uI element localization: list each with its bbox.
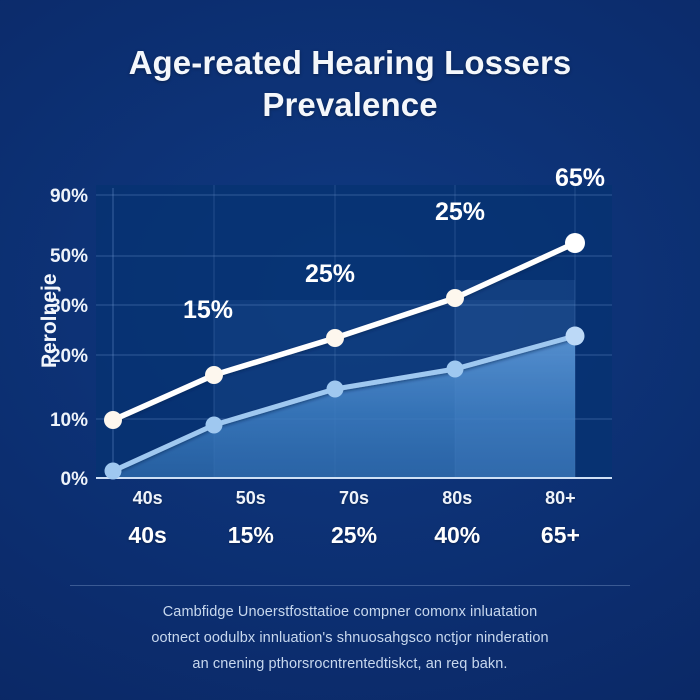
x-axis-tick-row-bottom: 40s 15% 25% 40% 65+	[96, 522, 612, 549]
y-tick-5: 0%	[61, 469, 89, 490]
y-tick-1: 50%	[50, 246, 88, 267]
x-tick-bottom-3: 40%	[406, 522, 509, 549]
page-title: Age-reated Hearing Lossers Prevalence	[0, 42, 700, 125]
annotation-1: 15%	[183, 296, 233, 324]
annotation-4: 65%	[555, 164, 605, 192]
annotation-2: 25%	[305, 260, 355, 288]
x-tick-top-4: 80+	[509, 488, 612, 509]
y-axis-title: Perolneje	[38, 273, 61, 368]
x-tick-bottom-2: 25%	[302, 522, 405, 549]
x-tick-top-3: 80s	[406, 488, 509, 509]
caption-line-2: ootnect oodulbx innluation's shnuosahgsc…	[70, 626, 630, 652]
caption-divider	[70, 585, 630, 586]
y-tick-4: 10%	[50, 410, 88, 431]
x-tick-top-2: 70s	[302, 488, 405, 509]
area-highlight-band-2	[455, 280, 575, 478]
x-axis-tick-row-top: 40s 50s 70s 80s 80+	[96, 488, 612, 509]
caption-block: Cambfidge Unoerstfosttatioe compner como…	[70, 585, 630, 677]
x-tick-bottom-1: 15%	[199, 522, 302, 549]
title-line-1: Age-reated Hearing Lossers	[70, 42, 630, 84]
x-tick-bottom-4: 65+	[509, 522, 612, 549]
line-chart: 90% 50% 30% 20% 10% 0% Perolneje 15% 25%…	[0, 160, 700, 490]
y-tick-0: 90%	[50, 186, 88, 207]
caption-line-1: Cambfidge Unoerstfosttatioe compner como…	[70, 600, 630, 626]
x-tick-top-1: 50s	[199, 488, 302, 509]
caption-line-3: an cnening pthorsrocntrentedtiskct, an r…	[70, 652, 630, 678]
chart-container: 90% 50% 30% 20% 10% 0% Perolneje 15% 25%…	[0, 160, 700, 490]
x-tick-bottom-0: 40s	[96, 522, 199, 549]
infographic-canvas: Age-reated Hearing Lossers Prevalence	[0, 0, 700, 700]
title-line-2: Prevalence	[70, 84, 630, 126]
annotation-3: 25%	[435, 198, 485, 226]
x-tick-top-0: 40s	[96, 488, 199, 509]
